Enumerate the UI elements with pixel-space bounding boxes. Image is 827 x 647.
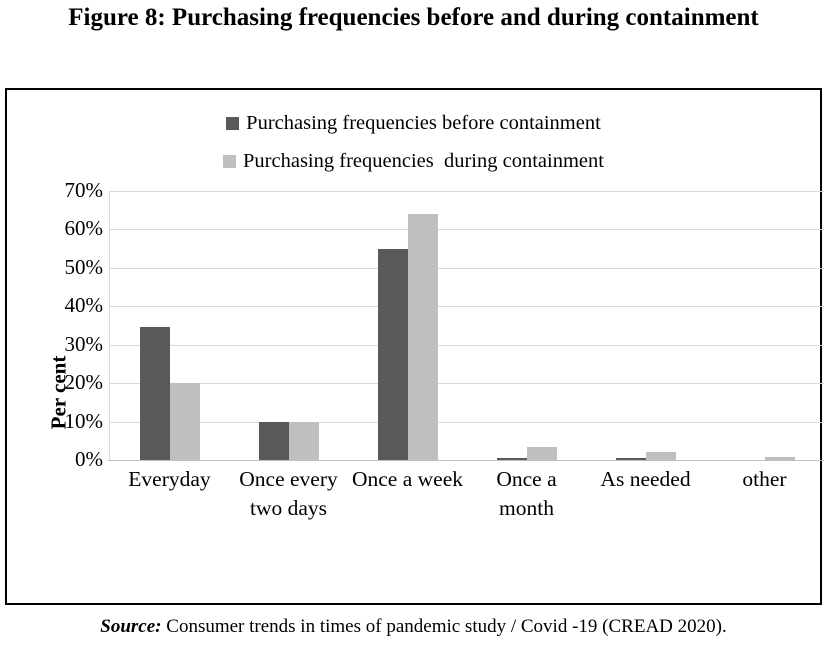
source-line: Source: Consumer trends in times of pand… bbox=[0, 616, 827, 638]
bar-before[interactable] bbox=[259, 422, 289, 460]
y-axis-tick-labels: 70%60%50%40%30%20%10%0% bbox=[17, 191, 103, 460]
x-axis-category-labels: EverydayOnce every two daysOnce a weekOn… bbox=[110, 465, 824, 585]
bar-group bbox=[586, 191, 705, 460]
bar-group bbox=[705, 191, 824, 460]
source-text: Consumer trends in times of pandemic stu… bbox=[162, 616, 727, 637]
figure-title: Figure 8: Purchasing frequencies before … bbox=[50, 2, 777, 33]
legend-entry-before: Purchasing frequencies before containmen… bbox=[7, 104, 820, 142]
bar-group bbox=[348, 191, 467, 460]
x-axis-line bbox=[108, 460, 824, 462]
legend-entry-during: Purchasing frequencies during containmen… bbox=[7, 142, 820, 180]
x-axis-category-label: Once a month bbox=[467, 465, 586, 523]
legend-label-before: Purchasing frequencies before containmen… bbox=[246, 112, 601, 134]
x-axis-category-label: Once every two days bbox=[229, 465, 348, 523]
bar-group bbox=[467, 191, 586, 460]
bar-during[interactable] bbox=[408, 214, 438, 460]
bar-group bbox=[229, 191, 348, 460]
y-axis-tick-label: 20% bbox=[25, 372, 103, 393]
x-axis-category-label: Everyday bbox=[110, 465, 229, 494]
legend-swatch-before-icon bbox=[226, 117, 239, 130]
legend-label-during: Purchasing frequencies during containmen… bbox=[243, 150, 604, 172]
x-axis-category-label: As needed bbox=[586, 465, 705, 494]
y-axis-tick-label: 60% bbox=[25, 218, 103, 239]
source-label: Source: bbox=[100, 616, 161, 637]
bar-before[interactable] bbox=[140, 327, 170, 460]
bars-layer bbox=[110, 191, 824, 460]
y-axis-tick-label: 0% bbox=[25, 449, 103, 470]
bar-group bbox=[110, 191, 229, 460]
plot-area bbox=[110, 191, 824, 460]
y-axis-tick-label: 10% bbox=[25, 411, 103, 432]
chart-legend: Purchasing frequencies before containmen… bbox=[7, 104, 820, 180]
bar-before[interactable] bbox=[378, 249, 408, 460]
y-axis-tick-label: 30% bbox=[25, 334, 103, 355]
legend-swatch-during-icon bbox=[223, 155, 236, 168]
y-axis-tick-label: 70% bbox=[25, 180, 103, 201]
bar-during[interactable] bbox=[527, 447, 557, 460]
y-axis-tick-label: 50% bbox=[25, 257, 103, 278]
x-axis-category-label: Once a week bbox=[348, 465, 467, 494]
x-axis-category-label: other bbox=[705, 465, 824, 494]
chart-frame: Purchasing frequencies before containmen… bbox=[5, 88, 822, 605]
y-axis-tick-label: 40% bbox=[25, 295, 103, 316]
bar-during[interactable] bbox=[170, 383, 200, 460]
bar-during[interactable] bbox=[289, 422, 319, 460]
